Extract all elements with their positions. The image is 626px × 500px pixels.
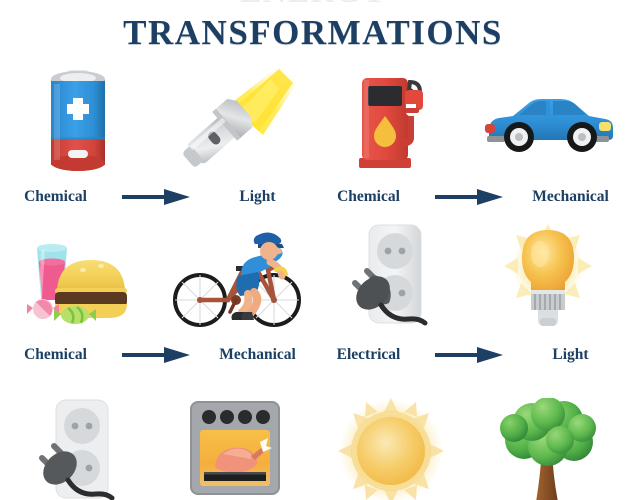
- clipped-heading-line: ENERGY: [0, 0, 626, 8]
- source-energy-label: Electrical: [317, 346, 421, 364]
- transformation-pair: Chemical Light: [0, 62, 313, 220]
- source-energy-label: Chemical: [4, 346, 108, 364]
- car-icon: [470, 60, 626, 180]
- light-bulb-icon: [470, 218, 626, 338]
- target-energy-label: Mechanical: [519, 188, 623, 206]
- transformation-labels: Chemical Light: [0, 182, 313, 212]
- arrow-right-icon: [114, 188, 200, 206]
- oven-icon: [156, 398, 313, 500]
- transformation-labels: Chemical Mechanical: [313, 182, 626, 212]
- source-energy-label: Chemical: [317, 188, 421, 206]
- transformation-row: Chemical Mechanical: [0, 220, 626, 378]
- flashlight-icon: [157, 60, 314, 180]
- target-energy-label: Light: [519, 346, 623, 364]
- transformation-labels: Chemical Mechanical: [0, 340, 313, 370]
- source-energy-label: Chemical: [4, 188, 108, 206]
- arrow-right-icon: [427, 188, 513, 206]
- cyclist-icon: [157, 218, 314, 338]
- transformation-pair: Chemical Mechanical: [0, 220, 313, 378]
- transformation-row: Chemical Light: [0, 62, 626, 220]
- transformation-row-clipped: [0, 398, 626, 500]
- transformation-pair: Electrical Light: [313, 220, 626, 378]
- tree-icon: [469, 398, 626, 500]
- electrical-socket-icon: [313, 218, 470, 338]
- gas-pump-icon: [313, 60, 470, 180]
- target-energy-label: Mechanical: [206, 346, 310, 364]
- transformation-pair: Chemical Mechanical: [313, 62, 626, 220]
- page-title: TRANSFORMATIONS: [0, 8, 626, 56]
- arrow-right-icon: [427, 346, 513, 364]
- clipped-heading-text: ENERGY: [0, 0, 626, 8]
- battery-icon: [0, 60, 157, 180]
- target-energy-label: Light: [206, 188, 310, 206]
- transformation-grid: Chemical Light: [0, 62, 626, 378]
- food-icon: [0, 218, 157, 338]
- transformation-labels: Electrical Light: [313, 340, 626, 370]
- arrow-right-icon: [114, 346, 200, 364]
- sun-icon: [313, 398, 469, 500]
- electrical-socket-icon: [0, 398, 156, 500]
